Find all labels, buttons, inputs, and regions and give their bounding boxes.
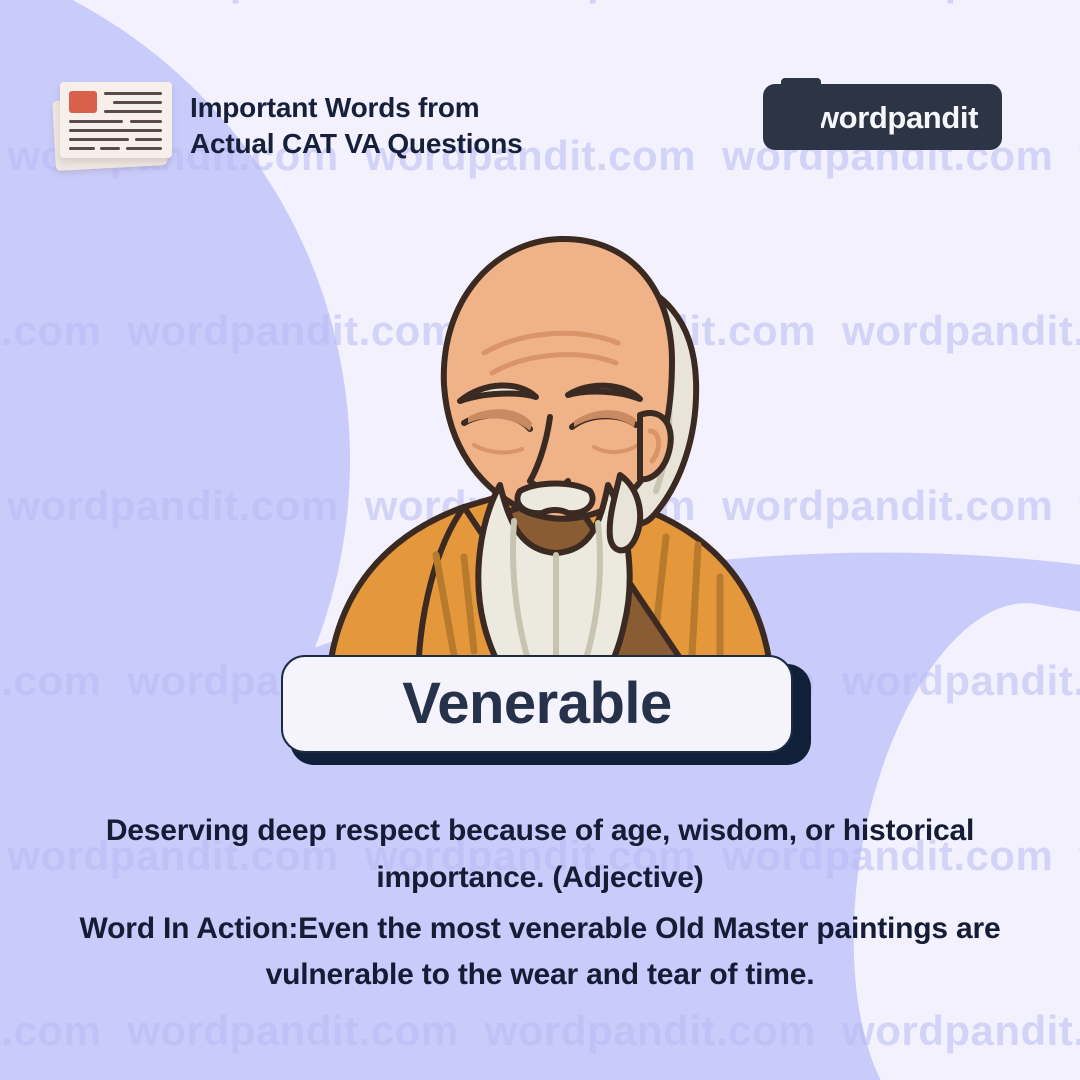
word-card: Venerable (281, 655, 811, 765)
word-card-surface: Venerable (281, 655, 793, 753)
bookmark-icon (781, 76, 821, 132)
poster-canvas: wordpandit.comwordpandit.comwordpandit.c… (0, 0, 1080, 1080)
word-copy: Deserving deep respect because of age, w… (50, 808, 1030, 999)
header-title-line-1: Important Words from (190, 90, 522, 126)
newspaper-icon (46, 76, 174, 172)
header-title-line-2: Actual CAT VA Questions (190, 126, 522, 162)
brand-logo[interactable]: wordpandit (763, 84, 1002, 150)
word-usage-example: Word In Action:Even the most venerable O… (50, 906, 1030, 1000)
word-term: Venerable (402, 675, 672, 733)
newspaper-image-block (69, 91, 97, 113)
header-title: Important Words from Actual CAT VA Quest… (190, 90, 522, 161)
word-definition: Deserving deep respect because of age, w… (50, 808, 1030, 902)
header: Important Words from Actual CAT VA Quest… (0, 0, 1080, 190)
elderly-sage-illustration (268, 185, 828, 685)
newspaper-front-sheet (60, 82, 172, 158)
